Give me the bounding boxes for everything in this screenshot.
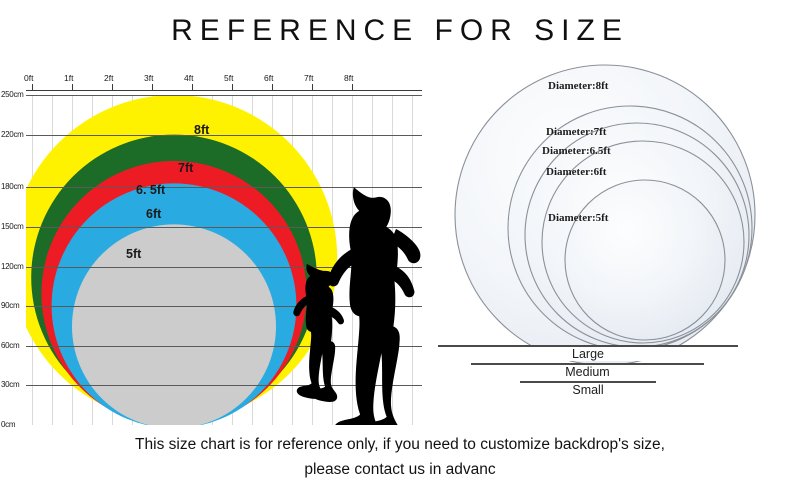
y-axis-label: 60cm [1, 341, 19, 350]
y-axis-label: 150cm [1, 222, 24, 231]
x-axis-label: 4ft [184, 73, 193, 83]
disc-8ft-label: Diameter:8ft [548, 80, 608, 92]
disc-6_5ft-label: Diameter:6.5ft [542, 145, 611, 157]
x-axis-tick [152, 84, 153, 90]
x-axis-label: 5ft [224, 73, 233, 83]
x-axis-label: 7ft [304, 73, 313, 83]
bracket-large-label: Large [438, 347, 738, 361]
arc-label-8ft: 8ft [194, 123, 209, 137]
x-axis-label: 6ft [264, 73, 273, 83]
height-comparison-chart: 0ft1ft2ft3ft4ft5ft6ft7ft8ft [0, 70, 430, 430]
arc-label-6ft: 6ft [146, 207, 161, 221]
arc-label-5ft: 5ft [126, 247, 141, 261]
bracket-medium-label: Medium [471, 365, 704, 379]
disc-5ft-label: Diameter:5ft [548, 212, 608, 224]
page-title: REFERENCE FOR SIZE [0, 14, 800, 48]
x-axis-tick [232, 84, 233, 90]
y-axis-label: 220cm [1, 130, 24, 139]
x-axis-tick [112, 84, 113, 90]
disc-5ft [565, 180, 725, 340]
woman-silhouette [328, 187, 421, 425]
plot-area: 8ft7ft6. 5ft6ft5ft [26, 95, 422, 425]
x-axis-label: 2ft [104, 73, 113, 83]
x-axis-label: 8ft [344, 73, 353, 83]
child-silhouette [293, 264, 345, 425]
y-axis-label: 90cm [1, 301, 19, 310]
x-axis-label: 3ft [144, 73, 153, 83]
size-chart-page: REFERENCE FOR SIZE 0ft1ft2ft3ft4ft5ft6ft… [0, 0, 800, 488]
footer-caption: This size chart is for reference only, i… [0, 432, 800, 482]
x-axis-label: 0ft [24, 73, 33, 83]
y-axis-label: 0cm [1, 420, 15, 429]
x-axis-tick [352, 84, 353, 90]
x-axis-tick [312, 84, 313, 90]
disc-7ft-label: Diameter:7ft [546, 126, 606, 138]
y-axis-label: 30cm [1, 380, 19, 389]
x-axis-tick [192, 84, 193, 90]
bracket-small-label: Small [520, 383, 656, 397]
person-silhouettes [26, 95, 422, 425]
arc-label-7ft: 7ft [178, 161, 193, 175]
x-axis-label: 1ft [64, 73, 73, 83]
arc-label-6_5ft: 6. 5ft [136, 183, 165, 197]
caption-line-2: please contact us in advanc [0, 457, 800, 482]
y-axis-label: 250cm [1, 90, 24, 99]
x-axis-tick [272, 84, 273, 90]
caption-line-1: This size chart is for reference only, i… [0, 432, 800, 457]
disc-size-diagram: Diameter:8ftDiameter:7ftDiameter:6.5ftDi… [430, 60, 800, 430]
y-axis-label: 180cm [1, 182, 24, 191]
disc-circles [430, 60, 800, 370]
y-axis-label: 120cm [1, 262, 24, 271]
x-axis-rule [26, 90, 422, 91]
disc-6ft-label: Diameter:6ft [546, 166, 606, 178]
x-axis-tick [72, 84, 73, 90]
x-axis-tick [32, 84, 33, 90]
